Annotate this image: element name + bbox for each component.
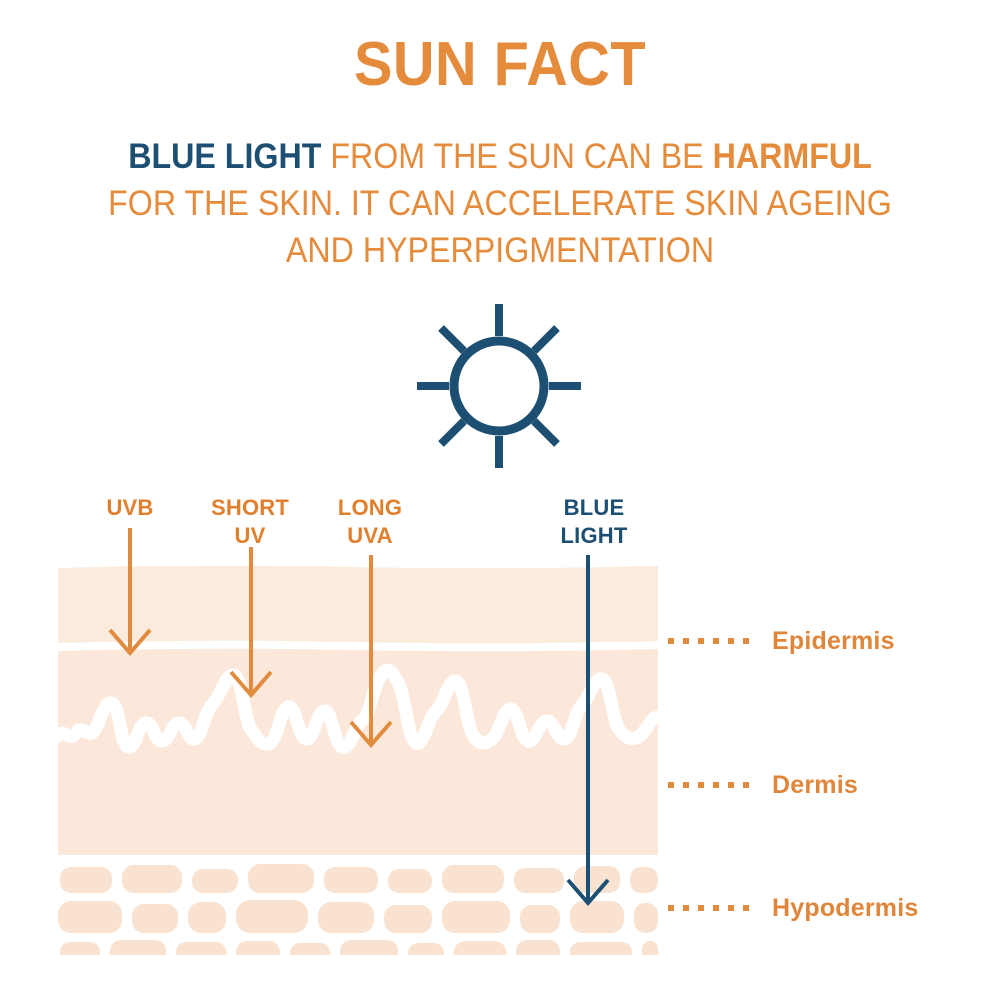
leader-line-hypodermis [668, 905, 758, 911]
layer-label-hypodermis: Hypodermis [772, 894, 918, 923]
subtitle-line2: FOR THE SKIN. IT CAN ACCELERATE SKIN AGE… [108, 184, 892, 223]
hypodermis-fat-cells [58, 864, 658, 955]
callout-hypodermis: Hypodermis [668, 895, 918, 921]
layer-label-epidermis: Epidermis [772, 627, 895, 656]
callout-dermis: Dermis [668, 772, 858, 798]
callout-epidermis: Epidermis [668, 628, 895, 654]
subtitle-harmful: HARMFUL [713, 137, 872, 176]
skin-layers-block [58, 566, 658, 855]
leader-line-dermis [668, 782, 758, 788]
infographic-page: SUN FACT BLUE LIGHT FROM THE SUN CAN BE … [0, 0, 1000, 1000]
subtitle-line3: AND HYPERPIGMENTATION [286, 231, 714, 270]
sun-icon [404, 296, 594, 476]
skin-cross-section-diagram [0, 455, 1000, 955]
subtitle-blue-light: BLUE LIGHT [128, 137, 321, 176]
leader-line-epidermis [668, 638, 758, 644]
subtitle-line1-mid: FROM THE SUN CAN BE [321, 137, 712, 176]
layer-label-dermis: Dermis [772, 771, 858, 800]
subtitle: BLUE LIGHT FROM THE SUN CAN BE HARMFUL F… [77, 133, 923, 274]
page-title: SUN FACT [35, 34, 965, 96]
dermis-layer [58, 649, 658, 855]
